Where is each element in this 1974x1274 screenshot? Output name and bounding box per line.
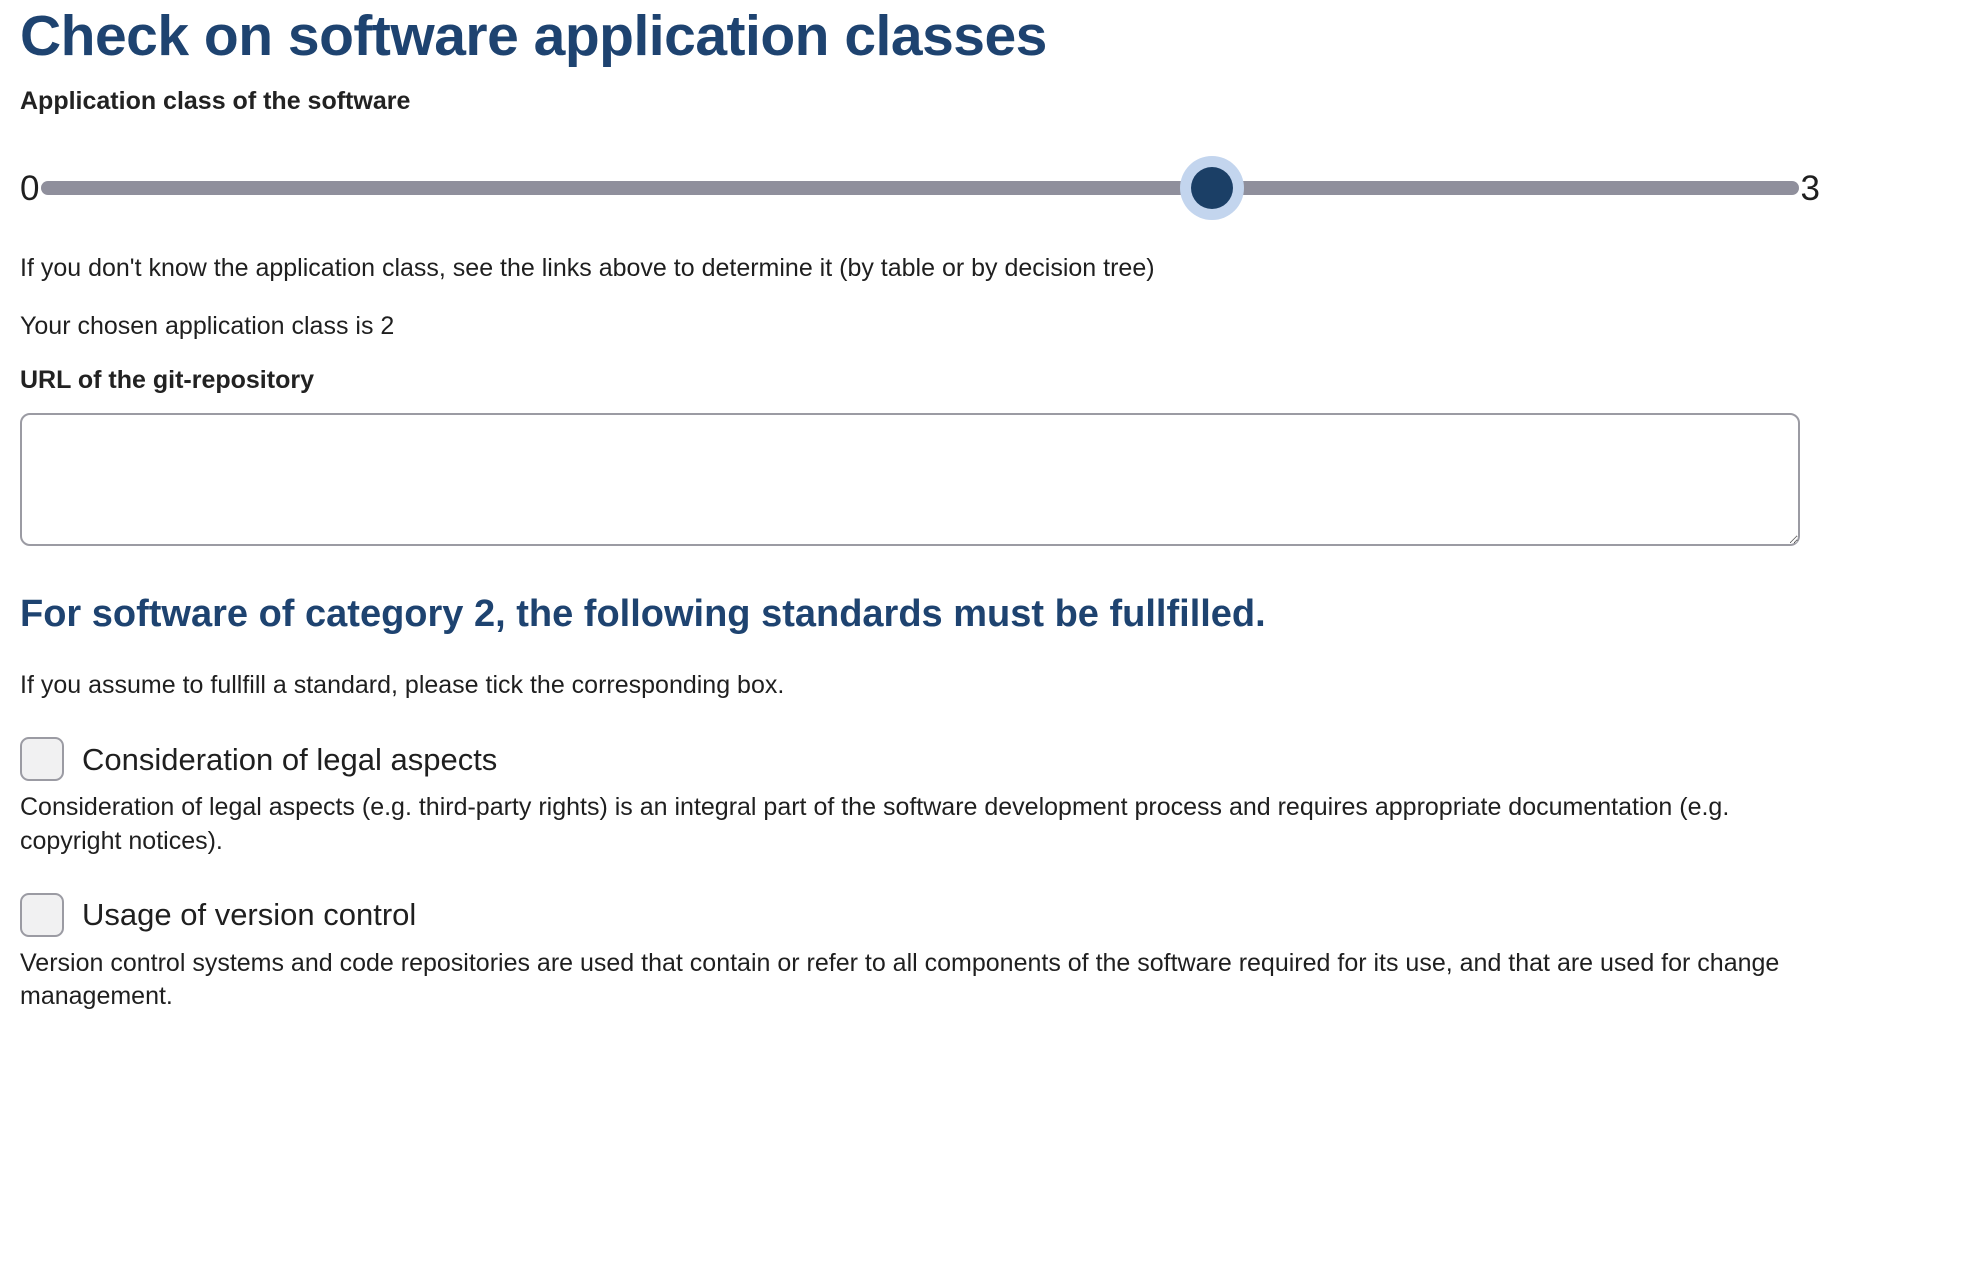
checkbox-legal-aspects[interactable] [20,737,64,781]
page-title: Check on software application classes [20,0,1974,65]
standards-instruction: If you assume to fullfill a standard, pl… [20,635,1974,703]
slider-min-label: 0 [20,171,39,206]
repository-url-input[interactable] [20,413,1800,546]
standard-check-row[interactable]: Consideration of legal aspects [20,737,1974,781]
standard-item: Consideration of legal aspects Considera… [20,737,1974,859]
chosen-application-class: Your chosen application class is 2 [20,286,1974,344]
standard-description: Consideration of legal aspects (e.g. thi… [20,781,1780,859]
checkbox-version-control[interactable] [20,893,64,937]
application-class-hint: If you don't know the application class,… [20,218,1974,286]
application-class-label: Application class of the software [20,65,1974,116]
slider-track-wrap[interactable] [41,158,1798,218]
slider-max-label: 3 [1801,171,1820,206]
standard-item: Usage of version control Version control… [20,893,1974,1015]
application-class-slider[interactable]: 0 3 [20,158,1820,218]
standards-heading: For software of category 2, the followin… [20,546,1974,636]
slider-thumb[interactable] [1180,156,1244,220]
standard-description: Version control systems and code reposit… [20,937,1780,1015]
standard-check-row[interactable]: Usage of version control [20,893,1974,937]
standard-label[interactable]: Usage of version control [82,899,416,930]
standard-label[interactable]: Consideration of legal aspects [82,744,497,775]
page-root: Check on software application classes Ap… [0,0,1974,1274]
slider-track[interactable] [41,181,1798,195]
repository-url-label: URL of the git-repository [20,344,1974,395]
